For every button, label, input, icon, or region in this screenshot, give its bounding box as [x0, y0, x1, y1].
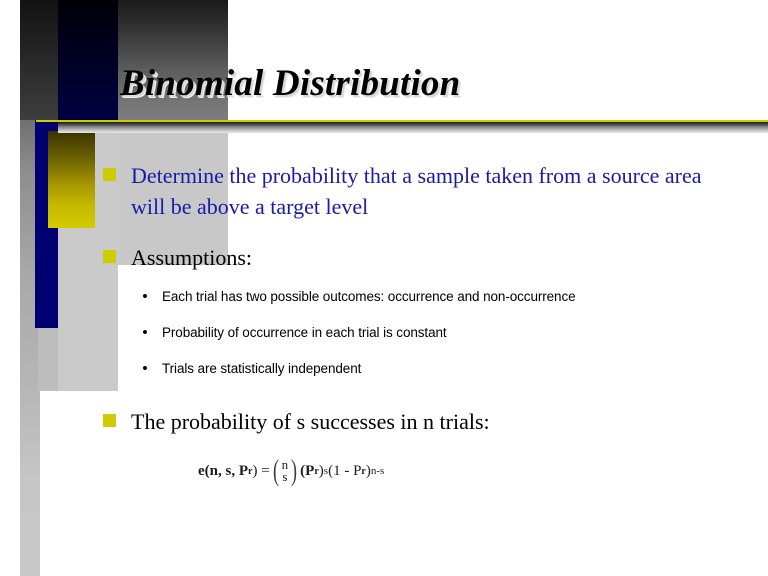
- formula-term2-open: (1 - P: [328, 463, 361, 480]
- bullet-label: Determine the probability that a sample …: [131, 160, 713, 222]
- formula-lhs: e(n, s, P: [198, 463, 248, 479]
- sub-bullet-item: • Each trial has two possible outcomes: …: [138, 288, 728, 306]
- round-bullet-icon: •: [138, 360, 152, 378]
- sub-bullet-item: • Trials are statistically independent: [138, 360, 608, 378]
- paren-right-icon: ): [291, 461, 297, 481]
- sub-bullet-label: Trials are statistically independent: [162, 360, 361, 378]
- bullet-item: Assumptions:: [103, 242, 603, 273]
- sub-bullet-label: Each trial has two possible outcomes: oc…: [162, 288, 576, 306]
- paren-left-icon: (: [273, 461, 279, 481]
- binomial-formula: e(n, s, Pr) = ( n s ) (Pr)s (1 - Pr)n-s: [198, 459, 384, 483]
- binomial-s: s: [282, 471, 287, 483]
- bullet-label: The probability of s successes in n tria…: [131, 406, 490, 437]
- round-bullet-icon: •: [138, 324, 152, 342]
- slide-body: Determine the probability that a sample …: [0, 0, 768, 576]
- bullet-item: The probability of s successes in n tria…: [103, 406, 663, 437]
- formula-term1-open: (P: [300, 463, 314, 479]
- yellow-square-bullet-icon: [103, 250, 116, 263]
- round-bullet-icon: •: [138, 288, 152, 306]
- formula-equals: ) =: [252, 463, 269, 480]
- bullet-label: Assumptions:: [131, 242, 252, 273]
- formula-term2-exponent: n-s: [371, 465, 384, 477]
- bullet-item: Determine the probability that a sample …: [103, 160, 713, 222]
- slide-canvas: Binomial Distribution Determine the prob…: [0, 0, 768, 576]
- binomial-coefficient: ( n s ): [271, 459, 300, 483]
- yellow-square-bullet-icon: [103, 168, 116, 181]
- sub-bullet-label: Probability of occurrence in each trial …: [162, 324, 447, 342]
- sub-bullet-item: • Probability of occurrence in each tria…: [138, 324, 658, 342]
- yellow-square-bullet-icon: [103, 414, 116, 427]
- binomial-stack: n s: [281, 459, 290, 483]
